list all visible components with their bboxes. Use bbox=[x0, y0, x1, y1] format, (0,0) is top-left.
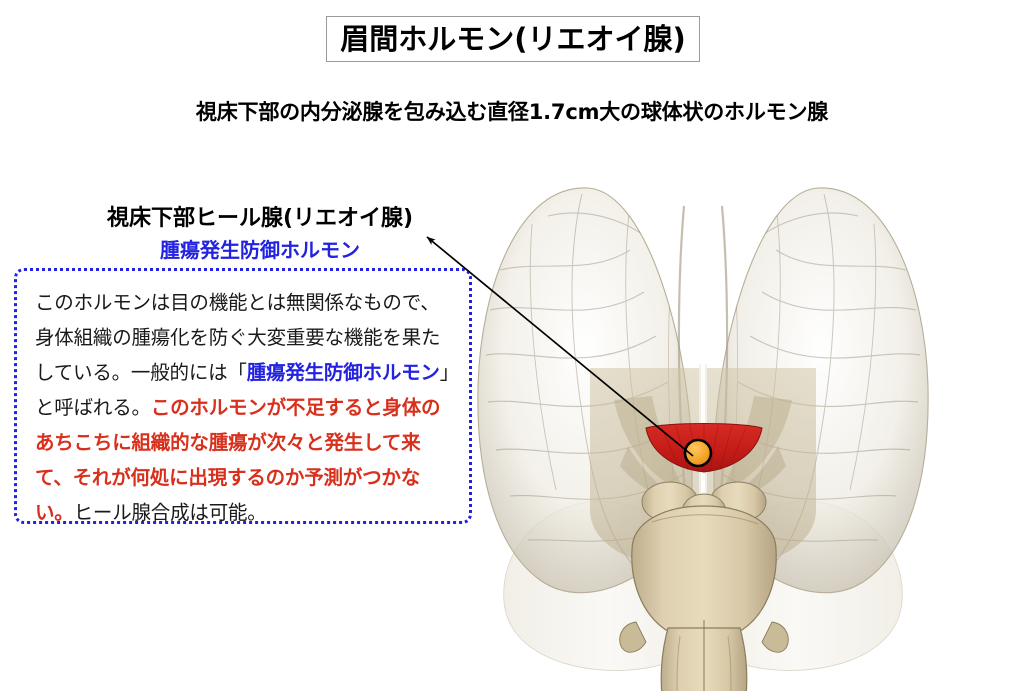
description-callout-box: このホルモンは目の機能とは無関係なもので、身体組織の腫瘍化を防ぐ大変重要な機能を… bbox=[14, 268, 472, 524]
gland-primary-label: 視床下部ヒール腺(リエオイ腺) bbox=[80, 200, 440, 232]
page-title: 眉間ホルモン(リエオイ腺) bbox=[340, 25, 686, 54]
gland-marker bbox=[685, 440, 711, 466]
page-subtitle: 視床下部の内分泌腺を包み込む直径1.7cm大の球体状のホルモン腺 bbox=[0, 96, 1024, 126]
description-segment: ヒール腺合成は可能。 bbox=[74, 501, 267, 524]
slide-canvas: 眉間ホルモン(リエオイ腺) 視床下部の内分泌腺を包み込む直径1.7cm大の球体状… bbox=[0, 0, 1024, 691]
description-text: このホルモンは目の機能とは無関係なもので、身体組織の腫瘍化を防ぐ大変重要な機能を… bbox=[35, 285, 453, 530]
brain-illustration bbox=[470, 150, 940, 691]
gland-secondary-label: 腫瘍発生防御ホルモン bbox=[80, 234, 440, 263]
page-title-box: 眉間ホルモン(リエオイ腺) bbox=[326, 16, 700, 62]
description-segment: 腫瘍発生防御ホルモン bbox=[247, 361, 440, 384]
